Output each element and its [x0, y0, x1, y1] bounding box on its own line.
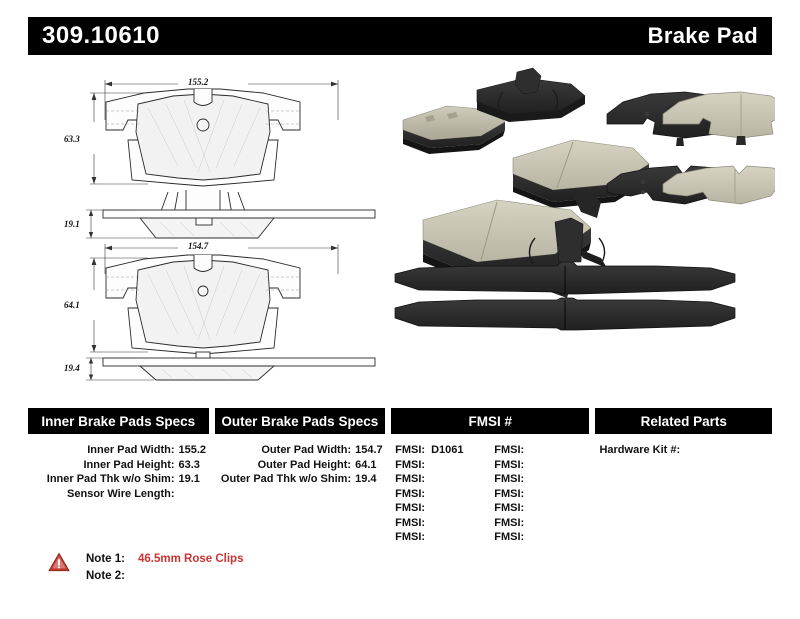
- outer-pad-front-view: [106, 255, 300, 354]
- outer-pad-edge-view: [103, 352, 375, 380]
- fmsi-label: FMSI:: [494, 516, 524, 531]
- spec-row: Sensor Wire Length:: [28, 487, 209, 502]
- fmsi-label: FMSI:: [395, 472, 425, 487]
- spec-value: 155.2: [175, 443, 209, 458]
- fmsi-value: [425, 501, 431, 516]
- fmsi-label: FMSI:: [395, 516, 425, 531]
- spec-row: Inner Pad Height: 63.3: [28, 458, 209, 473]
- fmsi-row: FMSI:: [391, 516, 490, 531]
- spec-row: Outer Pad Width: 154.7: [215, 443, 386, 458]
- photos-svg: [385, 62, 775, 382]
- fmsi-label: FMSI:: [395, 487, 425, 502]
- photo-pad-back-right: [477, 68, 585, 122]
- fmsi-subcolumn-left: FMSI: D1061 FMSI: FMSI: FMSI:: [391, 443, 490, 545]
- fmsi-label: FMSI:: [494, 443, 524, 458]
- fmsi-column: FMSI: D1061 FMSI: FMSI: FMSI:: [391, 443, 589, 545]
- fmsi-value: [524, 487, 530, 502]
- spec-value: 19.1: [175, 472, 209, 487]
- fmsi-value: [425, 530, 431, 545]
- spec-label: Outer Pad Width:: [261, 443, 351, 458]
- part-number: 309.10610: [42, 22, 160, 50]
- spec-label: Inner Pad Height:: [83, 458, 174, 473]
- fmsi-value: [425, 487, 431, 502]
- fmsi-subcolumn-right: FMSI: FMSI: FMSI: FMSI:: [490, 443, 589, 545]
- header-outer-specs: Outer Brake Pads Specs: [215, 408, 386, 434]
- fmsi-label: FMSI:: [395, 501, 425, 516]
- spec-value: 63.3: [175, 458, 209, 473]
- specs-table-body: Inner Pad Width: 155.2 Inner Pad Height:…: [28, 434, 772, 545]
- fmsi-value: [425, 472, 431, 487]
- fmsi-value: [524, 501, 530, 516]
- fmsi-row: FMSI:: [391, 487, 490, 502]
- spec-row: Inner Pad Thk w/o Shim: 19.1: [28, 472, 209, 487]
- fmsi-row: FMSI:: [391, 458, 490, 473]
- drawings-svg: [28, 62, 378, 382]
- fmsi-row: FMSI:: [490, 516, 589, 531]
- header-fmsi: FMSI #: [391, 408, 589, 434]
- outer-thickness-dimension-label: 19.4: [64, 363, 80, 373]
- spec-label: Outer Pad Thk w/o Shim:: [221, 472, 351, 487]
- outer-specs-column: Outer Pad Width: 154.7 Outer Pad Height:…: [215, 443, 386, 545]
- spec-label: Sensor Wire Length:: [67, 487, 174, 502]
- spec-value: [175, 487, 209, 502]
- fmsi-label: FMSI:: [395, 458, 425, 473]
- fmsi-value: [425, 516, 431, 531]
- spec-sheet-page: 309.10610 Brake Pad: [0, 0, 800, 619]
- fmsi-value: [524, 516, 530, 531]
- note-2-value: [132, 568, 138, 585]
- fmsi-value: [524, 458, 530, 473]
- fmsi-label: FMSI:: [494, 530, 524, 545]
- note-1-label: Note 1:: [86, 551, 132, 568]
- fmsi-row: FMSI:: [490, 443, 589, 458]
- fmsi-row: FMSI:: [490, 472, 589, 487]
- header-inner-specs: Inner Brake Pads Specs: [28, 408, 209, 434]
- fmsi-row: FMSI:: [490, 458, 589, 473]
- note-1-value: 46.5mm Rose Clips: [132, 551, 243, 568]
- hardware-kit-row: Hardware Kit #:: [595, 443, 772, 458]
- technical-drawings-panel: 155.2 63.3 19.1 154.7 64.1 19.4: [28, 62, 378, 382]
- fmsi-label: FMSI:: [494, 487, 524, 502]
- inner-height-dimension-label: 63.3: [64, 134, 80, 144]
- inner-width-dimension-label: 155.2: [188, 77, 208, 87]
- spec-row: Outer Pad Thk w/o Shim: 19.4: [215, 472, 386, 487]
- fmsi-label: FMSI:: [494, 472, 524, 487]
- specs-table: Inner Brake Pads Specs Outer Brake Pads …: [28, 408, 772, 545]
- outer-width-dimension-label: 154.7: [188, 241, 208, 251]
- inner-thickness-dimension-label: 19.1: [64, 219, 80, 229]
- header-bar: 309.10610 Brake Pad: [28, 17, 772, 55]
- inner-specs-column: Inner Pad Width: 155.2 Inner Pad Height:…: [28, 443, 209, 545]
- fmsi-row: FMSI:: [490, 501, 589, 516]
- notes-section: Note 1: 46.5mm Rose Clips Note 2:: [48, 551, 243, 585]
- inner-pad-front-view: [106, 89, 300, 230]
- fmsi-row: FMSI:: [391, 472, 490, 487]
- fmsi-value: D1061: [425, 443, 463, 458]
- spec-label: Inner Pad Thk w/o Shim:: [47, 472, 175, 487]
- fmsi-value: [524, 443, 530, 458]
- product-photos-panel: [385, 62, 775, 382]
- fmsi-label: FMSI:: [494, 501, 524, 516]
- spec-value: 64.1: [351, 458, 385, 473]
- hardware-kit-label: Hardware Kit #:: [599, 444, 680, 456]
- fmsi-value: [524, 472, 530, 487]
- fmsi-row: FMSI:: [490, 487, 589, 502]
- related-parts-column: Hardware Kit #:: [595, 443, 772, 545]
- spec-value: 19.4: [351, 472, 385, 487]
- product-category: Brake Pad: [648, 23, 758, 49]
- note-row-2: Note 2:: [86, 568, 243, 585]
- spec-row: Outer Pad Height: 64.1: [215, 458, 386, 473]
- fmsi-label: FMSI:: [494, 458, 524, 473]
- spec-row: Inner Pad Width: 155.2: [28, 443, 209, 458]
- fmsi-row: FMSI:: [490, 530, 589, 545]
- spec-value: 154.7: [351, 443, 385, 458]
- note-2-label: Note 2:: [86, 568, 132, 585]
- inner-pad-edge-view: [103, 210, 375, 238]
- specs-table-header-row: Inner Brake Pads Specs Outer Brake Pads …: [28, 408, 772, 434]
- fmsi-row: FMSI:: [391, 501, 490, 516]
- fmsi-row: FMSI: D1061: [391, 443, 490, 458]
- spec-label: Outer Pad Height:: [258, 458, 352, 473]
- header-related-parts: Related Parts: [595, 408, 772, 434]
- note-lines: Note 1: 46.5mm Rose Clips Note 2:: [86, 551, 243, 585]
- spec-label: Inner Pad Width:: [87, 443, 174, 458]
- photo-edge-view-plain: [395, 298, 735, 330]
- outer-height-dimension-label: 64.1: [64, 300, 80, 310]
- fmsi-label: FMSI:: [395, 530, 425, 545]
- note-row-1: Note 1: 46.5mm Rose Clips: [86, 551, 243, 568]
- warning-triangle-icon: [48, 552, 70, 572]
- fmsi-label: FMSI:: [395, 443, 425, 458]
- fmsi-value: [524, 530, 530, 545]
- fmsi-value: [425, 458, 431, 473]
- fmsi-row: FMSI:: [391, 530, 490, 545]
